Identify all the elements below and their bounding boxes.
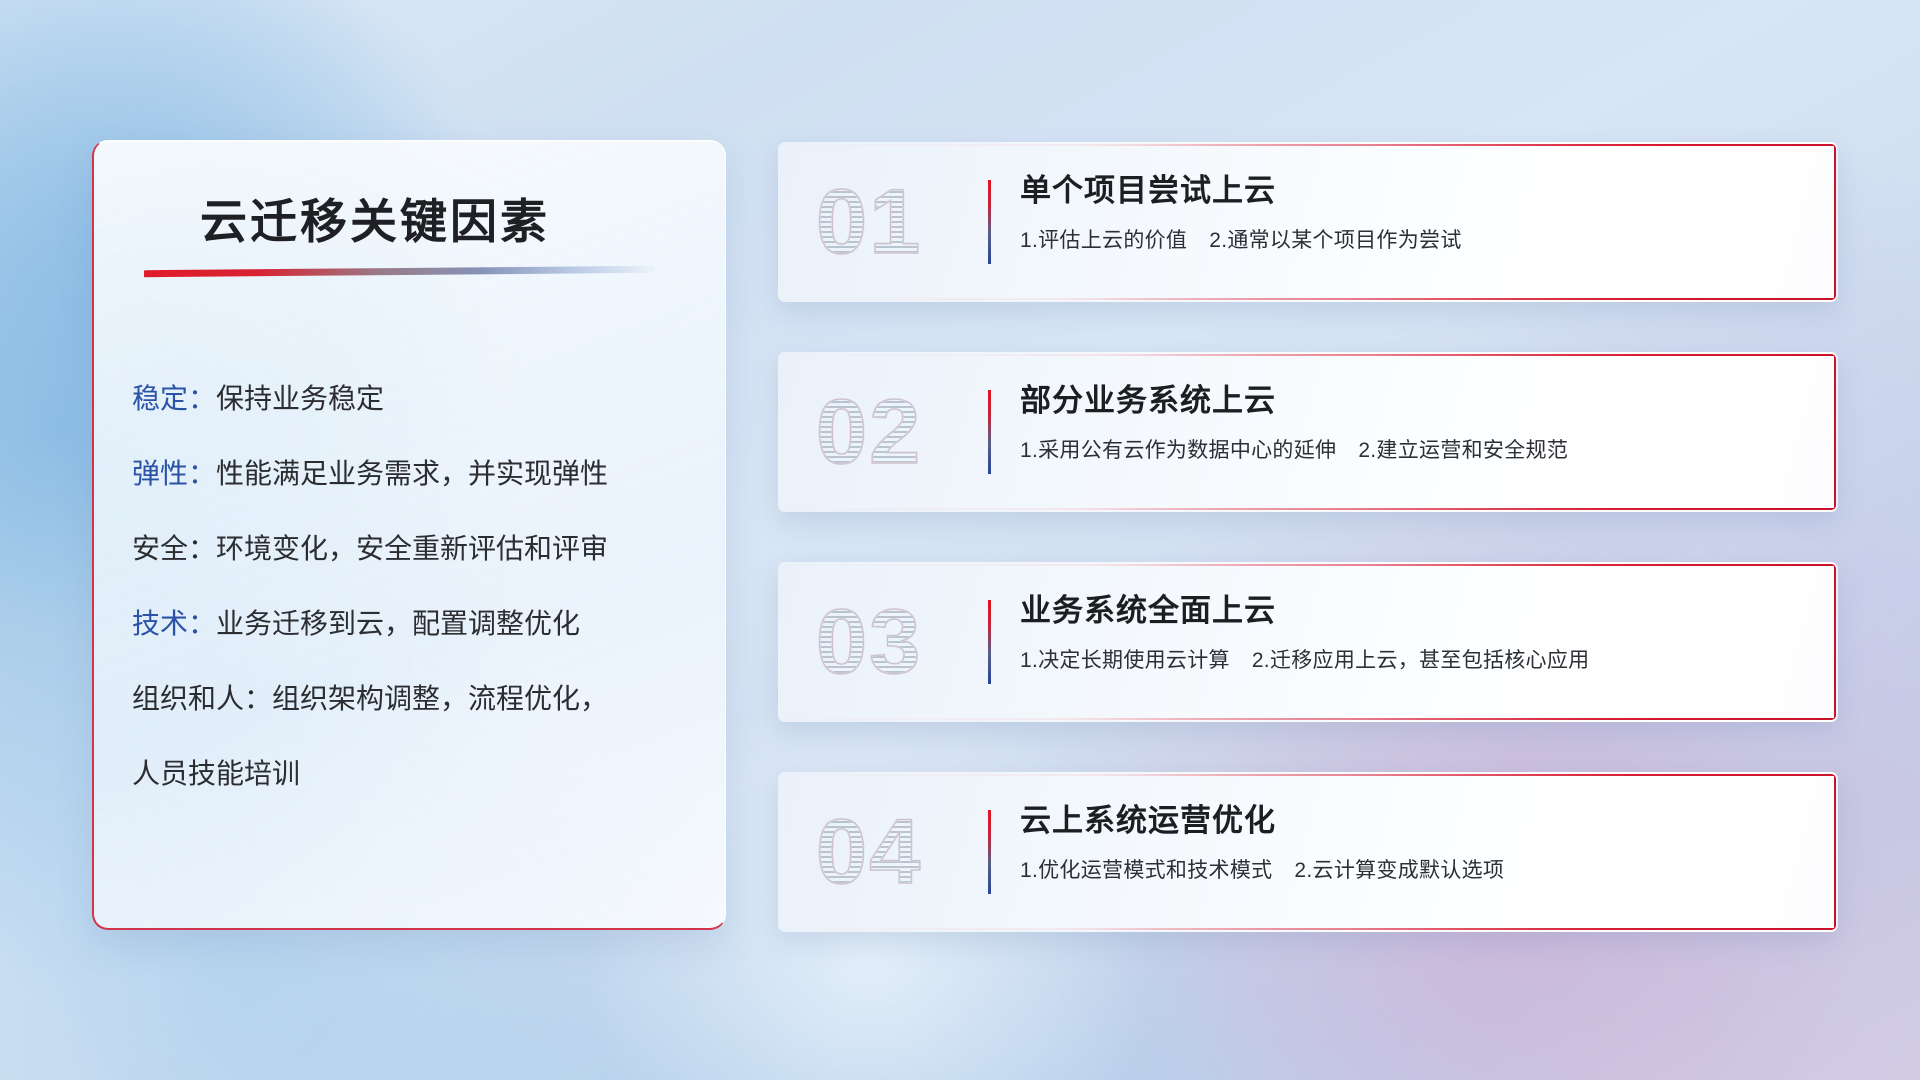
- card-edge-bottom: [1095, 508, 1836, 510]
- card-edge-bottom: [1095, 928, 1836, 930]
- list-item-body: 人员技能培训: [132, 758, 300, 789]
- key-factors-list: 稳定：保持业务稳定 弹性：性能满足业务需求，并实现弹性 安全：环境变化，安全重新…: [132, 361, 699, 811]
- step-subtitle: 1.采用公有云作为数据中心的延伸2.建立运营和安全规范: [1020, 434, 1816, 464]
- step-number-01-glow: 01: [816, 176, 922, 268]
- step-number-02-glow: 02: [816, 386, 922, 478]
- card-edge-top: [1138, 774, 1836, 776]
- step-text-block: 业务系统全面上云 1.决定长期使用云计算2.迁移应用上云，甚至包括核心应用: [1020, 592, 1816, 674]
- card-edge-right: [1834, 144, 1836, 300]
- step-divider: [988, 390, 991, 474]
- step-point-2: 2.通常以某个项目作为尝试: [1209, 229, 1461, 252]
- step-point-1: 1.采用公有云作为数据中心的延伸: [1020, 439, 1336, 462]
- step-text-block: 云上系统运营优化 1.优化运营模式和技术模式2.云计算变成默认选项: [1020, 802, 1816, 884]
- step-point-2: 2.建立运营和安全规范: [1358, 439, 1568, 462]
- step-card-01[interactable]: 01 01 单个项目尝试上云 1.评估上云的价值2.通常以某个项目作为尝试: [778, 142, 1838, 302]
- step-card-02[interactable]: 02 02 部分业务系统上云 1.采用公有云作为数据中心的延伸2.建立运营和安全…: [778, 352, 1838, 512]
- list-item-body: 性能满足业务需求，并实现弹性: [216, 458, 608, 489]
- list-item: 技术：业务迁移到云，配置调整优化: [132, 586, 699, 661]
- card-edge-right: [1834, 774, 1836, 930]
- step-point-1: 1.决定长期使用云计算: [1020, 649, 1230, 672]
- card-edge-top: [1138, 564, 1836, 566]
- card-edge-top: [1138, 354, 1836, 356]
- step-title: 业务系统全面上云: [1020, 592, 1816, 631]
- list-item-label: 组织和人：: [132, 683, 272, 714]
- list-item-continuation: 人员技能培训: [132, 736, 699, 811]
- step-point-2: 2.云计算变成默认选项: [1294, 859, 1504, 882]
- page-title: 云迁移关键因素: [200, 183, 550, 252]
- list-item-body: 环境变化，安全重新评估和评审: [216, 533, 608, 564]
- step-number-04-glow: 04: [816, 806, 922, 898]
- step-point-1: 1.优化运营模式和技术模式: [1020, 859, 1272, 882]
- list-item-label: 稳定：: [132, 383, 216, 414]
- step-text-block: 单个项目尝试上云 1.评估上云的价值2.通常以某个项目作为尝试: [1020, 172, 1816, 254]
- step-text-block: 部分业务系统上云 1.采用公有云作为数据中心的延伸2.建立运营和安全规范: [1020, 382, 1816, 464]
- step-point-2: 2.迁移应用上云，甚至包括核心应用: [1252, 649, 1590, 672]
- list-item: 弹性：性能满足业务需求，并实现弹性: [132, 436, 699, 511]
- list-item-label: 技术：: [132, 608, 216, 639]
- step-subtitle: 1.决定长期使用云计算2.迁移应用上云，甚至包括核心应用: [1020, 644, 1816, 674]
- step-title: 云上系统运营优化: [1020, 802, 1816, 841]
- step-subtitle: 1.优化运营模式和技术模式2.云计算变成默认选项: [1020, 854, 1816, 884]
- step-divider: [988, 810, 991, 894]
- card-edge-bottom: [1095, 298, 1836, 300]
- list-item: 稳定：保持业务稳定: [132, 361, 699, 436]
- list-item-body: 组织架构调整，流程优化，: [272, 683, 608, 714]
- list-item-body: 保持业务稳定: [216, 383, 384, 414]
- card-edge-bottom: [1095, 718, 1836, 720]
- step-number-03-glow: 03: [816, 596, 922, 688]
- step-title: 部分业务系统上云: [1020, 382, 1816, 421]
- step-point-1: 1.评估上云的价值: [1020, 229, 1187, 252]
- slide-canvas: 云迁移关键因素 稳定：保持业务稳定 弹性：性能满足业务需求，并实现弹性 安全：环…: [0, 0, 1920, 1080]
- title-underline-accent: [144, 266, 654, 277]
- list-item-label: 弹性：: [132, 458, 216, 489]
- step-card-04[interactable]: 04 04 云上系统运营优化 1.优化运营模式和技术模式2.云计算变成默认选项: [778, 772, 1838, 932]
- step-title: 单个项目尝试上云: [1020, 172, 1816, 211]
- card-edge-right: [1834, 564, 1836, 720]
- list-item-label: 安全：: [132, 533, 216, 564]
- step-subtitle: 1.评估上云的价值2.通常以某个项目作为尝试: [1020, 224, 1816, 254]
- card-edge-top: [1138, 144, 1836, 146]
- step-divider: [988, 600, 991, 684]
- list-item: 安全：环境变化，安全重新评估和评审: [132, 511, 699, 586]
- list-item: 组织和人：组织架构调整，流程优化，: [132, 661, 699, 736]
- list-item-body: 业务迁移到云，配置调整优化: [216, 608, 580, 639]
- step-card-03[interactable]: 03 03 业务系统全面上云 1.决定长期使用云计算2.迁移应用上云，甚至包括核…: [778, 562, 1838, 722]
- step-divider: [988, 180, 991, 264]
- key-factors-card: 云迁移关键因素 稳定：保持业务稳定 弹性：性能满足业务需求，并实现弹性 安全：环…: [92, 140, 726, 930]
- card-edge-right: [1834, 354, 1836, 510]
